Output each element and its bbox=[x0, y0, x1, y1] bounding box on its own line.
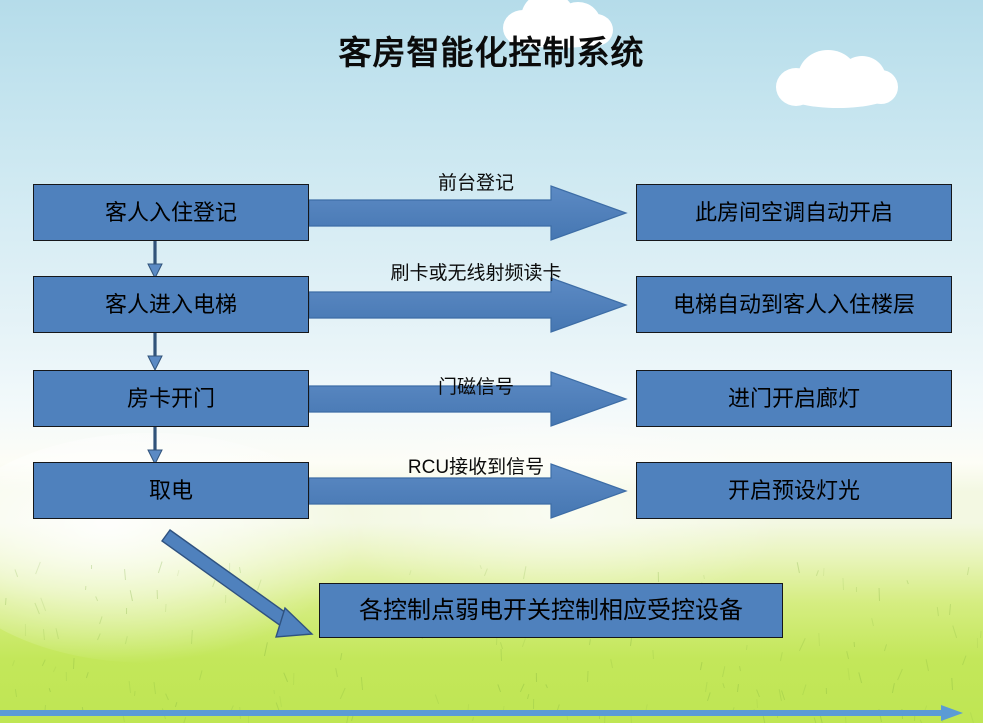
connector-label-text-2: 刷卡或无线射频读卡 bbox=[390, 263, 561, 284]
flow-step-box-3[interactable]: 房卡开门 bbox=[33, 370, 309, 427]
vertical-arrow-2 bbox=[148, 333, 162, 370]
flow-result-box-1[interactable]: 此房间空调自动开启 bbox=[636, 184, 952, 241]
vertical-arrow-1 bbox=[148, 241, 162, 278]
connector-label-2: 刷卡或无线射频读卡 bbox=[341, 258, 611, 285]
flow-result-box-4[interactable]: 开启预设灯光 bbox=[636, 462, 952, 519]
flow-step-box-2[interactable]: 客人进入电梯 bbox=[33, 276, 309, 333]
flow-step-label-3: 房卡开门 bbox=[127, 386, 215, 411]
flow-step-box-4[interactable]: 取电 bbox=[33, 462, 309, 519]
flow-final-label: 各控制点弱电开关控制相应受控设备 bbox=[359, 597, 743, 625]
connector-label-text-1: 前台登记 bbox=[438, 173, 514, 194]
flow-step-label-1: 客人入住登记 bbox=[105, 200, 237, 225]
flow-result-label-3: 进门开启廊灯 bbox=[728, 386, 860, 411]
connector-label-text-4: RCU接收到信号 bbox=[408, 457, 544, 478]
flow-result-box-3[interactable]: 进门开启廊灯 bbox=[636, 370, 952, 427]
flow-result-label-1: 此房间空调自动开启 bbox=[695, 200, 893, 225]
flow-step-label-4: 取电 bbox=[149, 478, 193, 503]
flow-result-label-4: 开启预设灯光 bbox=[728, 478, 860, 503]
page-title: 客房智能化控制系统 bbox=[0, 26, 983, 74]
connector-label-4: RCU接收到信号 bbox=[341, 452, 611, 479]
flow-step-label-2: 客人进入电梯 bbox=[105, 292, 237, 317]
flow-result-label-2: 电梯自动到客人入住楼层 bbox=[673, 292, 915, 317]
connector-label-1: 前台登记 bbox=[341, 168, 611, 195]
connector-label-3: 门磁信号 bbox=[341, 372, 611, 399]
flow-result-box-2[interactable]: 电梯自动到客人入住楼层 bbox=[636, 276, 952, 333]
flow-final-box[interactable]: 各控制点弱电开关控制相应受控设备 bbox=[319, 583, 783, 638]
slide-canvas: 客房智能化控制系统 bbox=[0, 0, 983, 723]
flow-step-box-1[interactable]: 客人入住登记 bbox=[33, 184, 309, 241]
block-arrow-2 bbox=[309, 278, 626, 332]
connector-label-text-3: 门磁信号 bbox=[438, 377, 514, 398]
